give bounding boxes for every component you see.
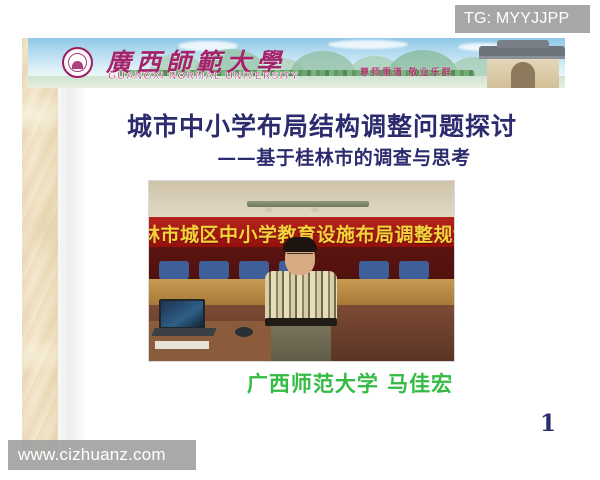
presentation-slide: 廣西師範大學 GUANGXI NORMAL UNIVERSITY 尊师重道 敬业… xyxy=(0,0,600,480)
speaker-hair xyxy=(283,237,317,252)
speaker-photograph: 林市城区中小学教育设施布局调整规划评 xyxy=(148,180,455,362)
speaker-trousers xyxy=(271,326,331,362)
campus-gate-photo xyxy=(473,38,565,88)
presenter-credit: 广西师范大学 马佳宏 xyxy=(84,368,560,398)
glasses-icon xyxy=(287,253,313,260)
slide-subtitle: ——基于桂林市的调查与思考 xyxy=(84,143,560,170)
gate-upper-roof xyxy=(497,40,549,48)
light-fixture xyxy=(311,207,319,212)
university-motto: 尊师重道 敬业乐群 xyxy=(360,65,453,78)
blue-chair xyxy=(159,261,189,279)
blue-chair xyxy=(199,261,229,279)
gate-arch xyxy=(511,62,535,88)
left-white-column xyxy=(58,88,84,460)
university-header-banner: 廣西師範大學 GUANGXI NORMAL UNIVERSITY 尊师重道 敬业… xyxy=(28,38,565,88)
mouse-icon xyxy=(235,327,253,337)
ceiling-light xyxy=(247,201,369,207)
university-name-english: GUANGXI NORMAL UNIVERSITY xyxy=(108,70,299,82)
laptop-keyboard xyxy=(151,328,216,336)
speaker-belt xyxy=(265,318,337,326)
watermark-bottom-text: www.cizhuanz.com xyxy=(18,445,166,465)
light-fixture xyxy=(265,207,273,212)
university-seal-icon xyxy=(62,47,93,78)
laptop-icon xyxy=(159,299,205,329)
cloud-shape xyxy=(328,40,408,49)
speaker-shirt xyxy=(265,271,337,325)
page-number: 1 xyxy=(540,410,556,437)
watermark-bottom-left: www.cizhuanz.com xyxy=(8,440,196,470)
blue-chair xyxy=(359,261,389,279)
watermark-top-right: TG: MYYJJPP xyxy=(455,5,590,33)
left-marble-strip xyxy=(22,38,58,460)
watermark-top-text: TG: MYYJJPP xyxy=(464,10,569,28)
blue-chair xyxy=(399,261,429,279)
slide-title: 城市中小学布局结构调整问题探讨 xyxy=(84,107,560,143)
ceiling xyxy=(149,181,454,217)
paper-sheet xyxy=(155,341,209,349)
